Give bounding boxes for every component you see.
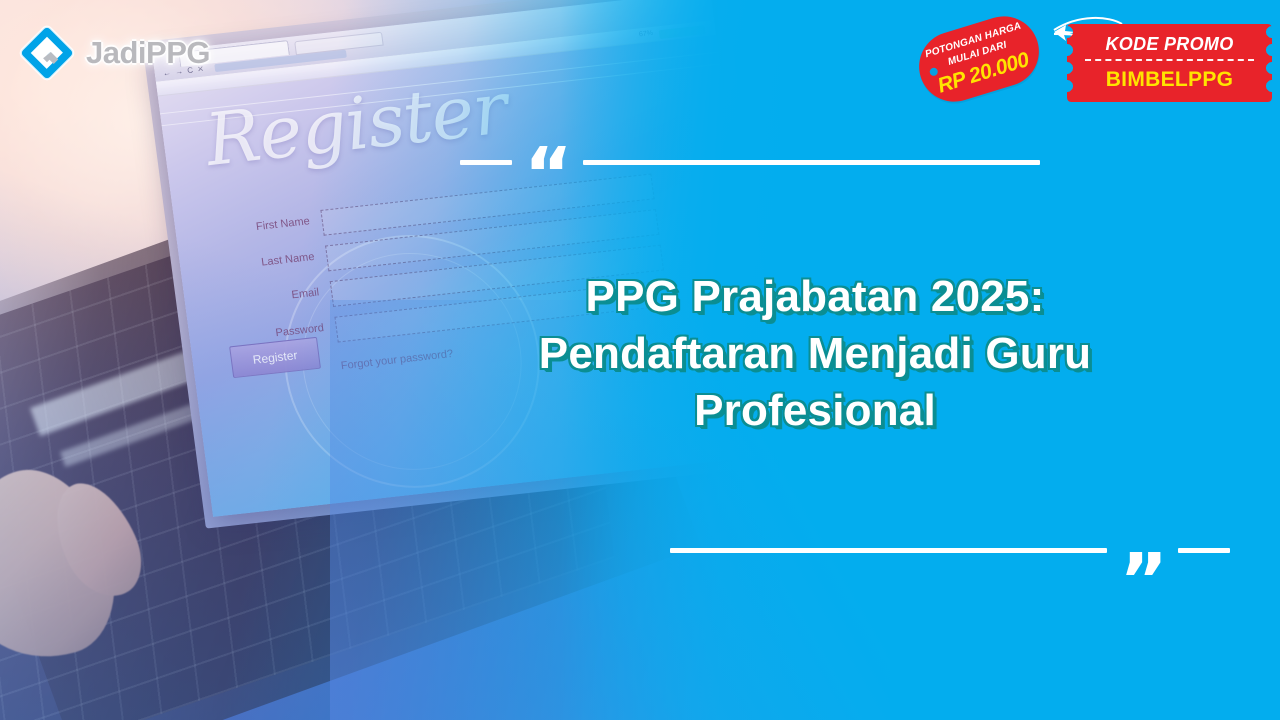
promo-banner: ← → C ✕ 67% Register First Name Last Nam… bbox=[0, 0, 1280, 720]
headline-line-1: PPG Prajabatan 2025: bbox=[460, 268, 1170, 325]
promo-code-coupon[interactable]: KODE PROMO BIMBELPPG bbox=[1067, 24, 1272, 102]
quote-rule-bottom: ” bbox=[670, 548, 1230, 553]
quote-rule-top: “ bbox=[460, 160, 1040, 165]
headline-line-2: Pendaftaran Menjadi Guru bbox=[460, 325, 1170, 382]
rule-short-top bbox=[460, 160, 512, 165]
brand-name: JadiPPG bbox=[86, 35, 210, 71]
jadippg-logo-icon bbox=[18, 24, 76, 82]
headline-line-3: Profesional bbox=[460, 382, 1170, 439]
brand-logo[interactable]: JadiPPG bbox=[18, 24, 210, 82]
rule-long-bottom bbox=[670, 548, 1107, 553]
page-title: PPG Prajabatan 2025: Pendaftaran Menjadi… bbox=[460, 268, 1170, 440]
rule-long-top bbox=[583, 160, 1040, 165]
promo-group: POTONGAN HARGA MULAI DARI RP 20.000 KODE… bbox=[904, 8, 1272, 118]
coupon-title: KODE PROMO bbox=[1067, 34, 1272, 55]
coupon-code: BIMBELPPG bbox=[1067, 68, 1272, 92]
rule-short-bottom bbox=[1178, 548, 1230, 553]
coupon-divider bbox=[1085, 59, 1254, 61]
